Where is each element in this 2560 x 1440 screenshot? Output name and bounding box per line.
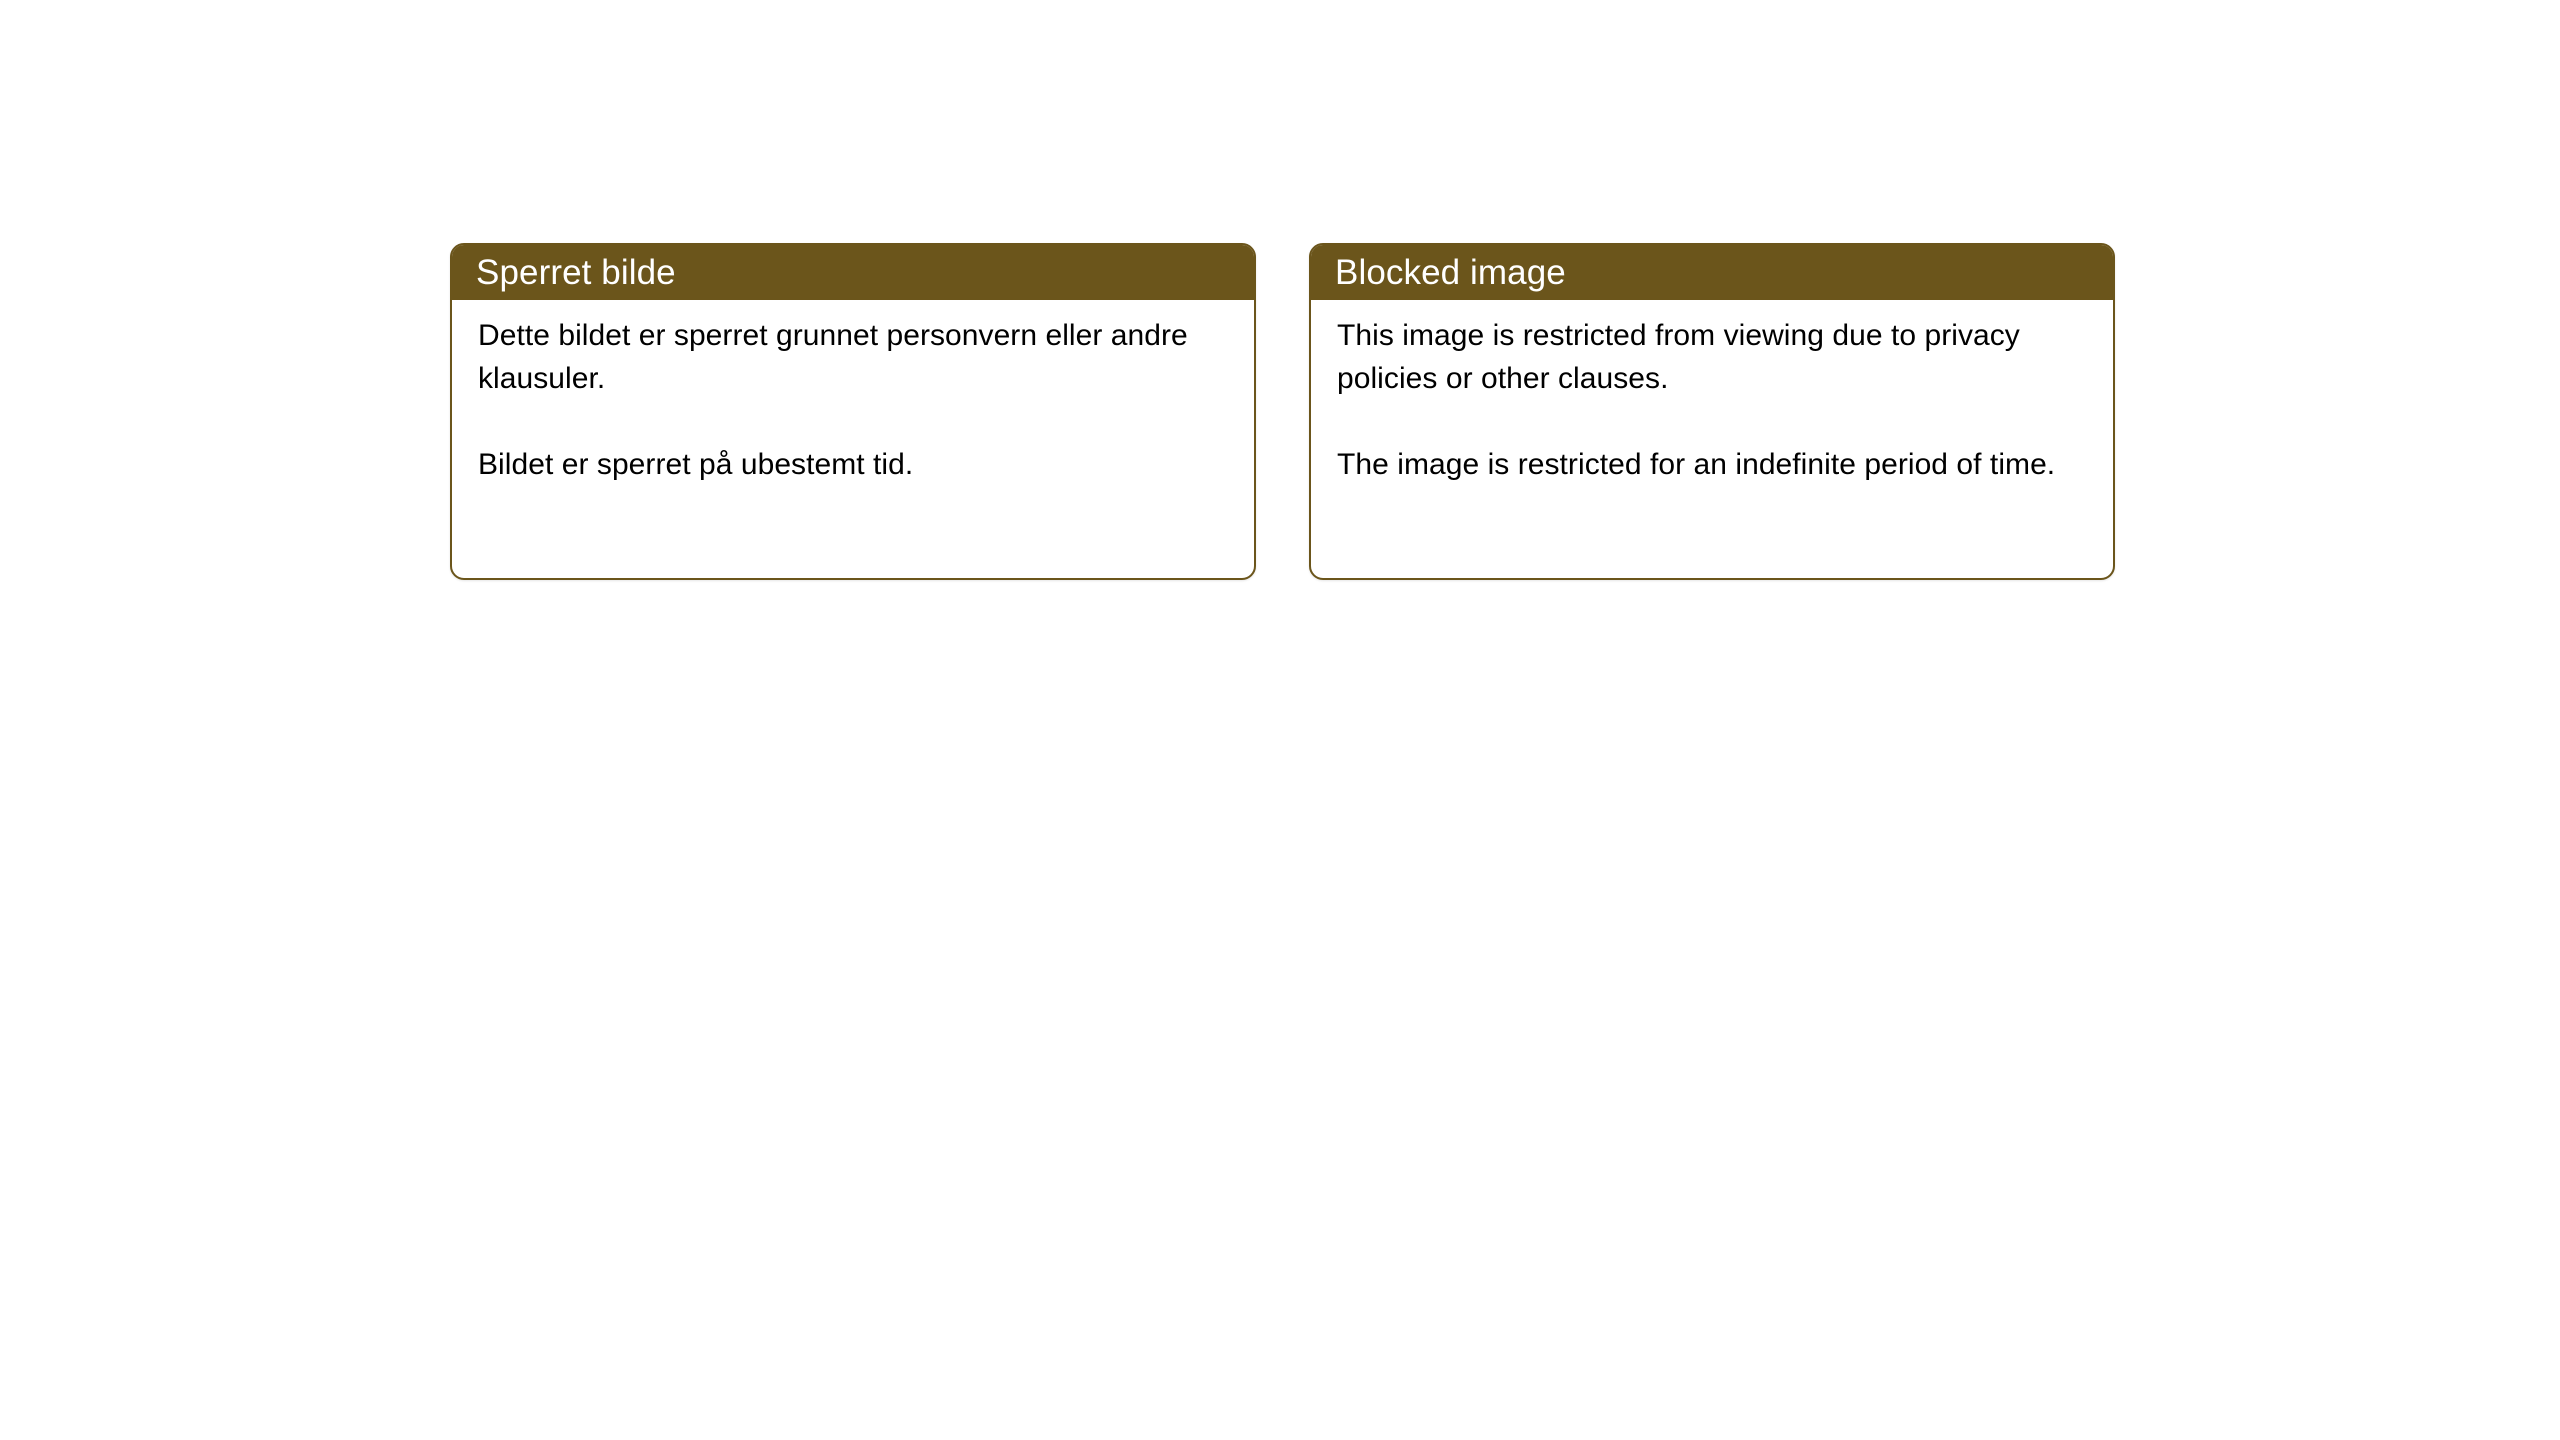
panel-header-norwegian: Sperret bilde (452, 245, 1254, 300)
panel-paragraph-primary-english: This image is restricted from viewing du… (1337, 314, 2087, 400)
page-root: Sperret bilde Dette bildet er sperret gr… (0, 0, 2560, 1440)
panel-title-english: Blocked image (1335, 255, 1566, 290)
blocked-image-notice-norwegian: Sperret bilde Dette bildet er sperret gr… (450, 243, 1256, 580)
panel-paragraph-secondary-norwegian: Bildet er sperret på ubestemt tid. (478, 443, 1228, 486)
panel-title-norwegian: Sperret bilde (476, 255, 676, 290)
paragraph-spacer (478, 400, 1228, 443)
paragraph-spacer (1337, 400, 2087, 443)
panel-body-english: This image is restricted from viewing du… (1311, 300, 2113, 486)
panel-body-norwegian: Dette bildet er sperret grunnet personve… (452, 300, 1254, 486)
blocked-image-notice-english: Blocked image This image is restricted f… (1309, 243, 2115, 580)
panel-header-english: Blocked image (1311, 245, 2113, 300)
panel-paragraph-primary-norwegian: Dette bildet er sperret grunnet personve… (478, 314, 1228, 400)
panel-paragraph-secondary-english: The image is restricted for an indefinit… (1337, 443, 2087, 486)
